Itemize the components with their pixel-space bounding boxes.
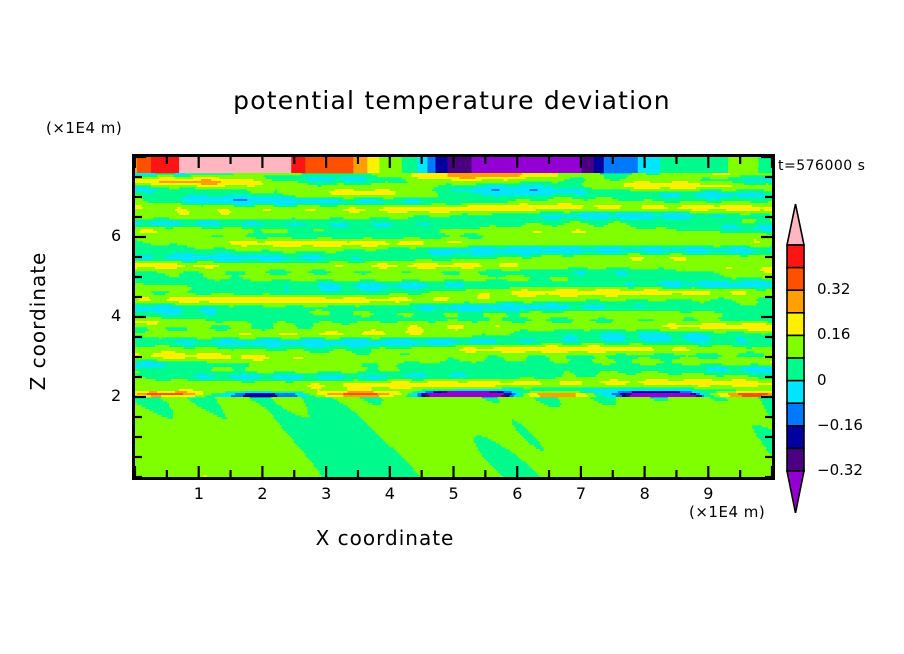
plot-axes: [0, 0, 904, 654]
x-tick-label: 5: [449, 484, 459, 503]
figure-canvas: potential temperature deviation (×1E4 m)…: [0, 0, 904, 654]
x-tick-label: 1: [194, 484, 204, 503]
colorbar-band: [787, 245, 804, 268]
colorbar-band: [787, 358, 804, 381]
colorbar-tick-label: 0.16: [817, 325, 850, 343]
y-tick-label: 2: [111, 386, 121, 405]
y-tick-label: 6: [111, 226, 121, 245]
x-tick-label: 7: [576, 484, 586, 503]
x-tick-label: 4: [385, 484, 395, 503]
colorbar-tick-label: 0.32: [817, 280, 850, 298]
y-tick-label: 4: [111, 306, 121, 325]
colorbar-band: [787, 426, 804, 449]
colorbar-tick-label: −0.16: [817, 416, 863, 434]
colorbar: [780, 203, 820, 513]
x-tick-label: 3: [321, 484, 331, 503]
colorbar-band: [787, 268, 804, 291]
colorbar-band: [787, 448, 804, 471]
x-tick-label: 6: [512, 484, 522, 503]
x-tick-label: 9: [703, 484, 713, 503]
colorbar-cap-top: [787, 204, 804, 245]
colorbar-band: [787, 381, 804, 404]
x-tick-label: 8: [640, 484, 650, 503]
colorbar-band: [787, 313, 804, 336]
colorbar-band: [787, 290, 804, 313]
colorbar-tick-label: 0: [817, 371, 827, 389]
colorbar-band: [787, 403, 804, 426]
colorbar-tick-label: −0.32: [817, 461, 863, 479]
colorbar-cap-bottom: [787, 471, 804, 513]
colorbar-band: [787, 335, 804, 358]
x-tick-label: 2: [257, 484, 267, 503]
